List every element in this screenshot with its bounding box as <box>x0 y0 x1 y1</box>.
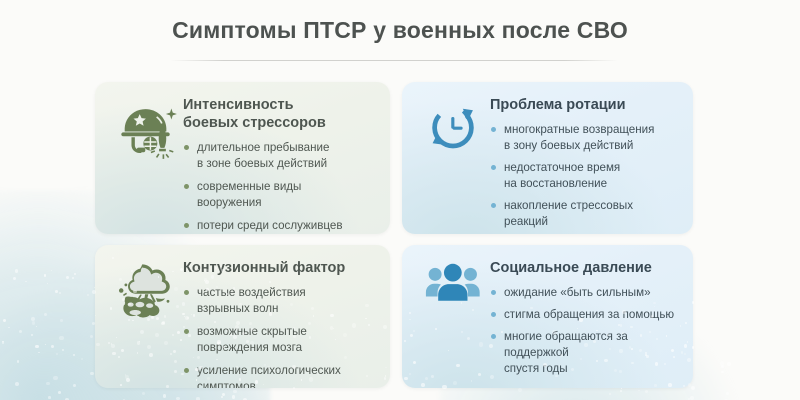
texture-speckle <box>690 396 694 400</box>
texture-speckle <box>81 358 83 360</box>
card-rotation-title: Проблема ротации <box>490 97 679 115</box>
card-social-pressure-icon-slot <box>416 259 490 376</box>
list-item: стигма обращения за помощью <box>490 307 679 323</box>
texture-speckle <box>38 352 39 353</box>
texture-speckle <box>8 327 9 328</box>
clock-rotation-icon <box>425 99 481 155</box>
texture-speckle <box>53 376 57 380</box>
texture-speckle <box>645 390 648 393</box>
texture-speckle <box>60 319 63 322</box>
texture-speckle <box>17 360 20 363</box>
texture-speckle <box>46 382 50 386</box>
texture-speckle <box>176 397 179 400</box>
card-social-pressure[interactable]: Социальное давление ожидание «быть сильн… <box>402 245 693 388</box>
card-intensity-bullet-list: длительное пребывание в зоне боевых дейс… <box>183 140 376 234</box>
page-title: Симптомы ПТСР у военных после СВО <box>0 17 800 44</box>
texture-speckle <box>72 277 74 279</box>
texture-speckle <box>233 390 237 394</box>
texture-speckle <box>55 290 58 293</box>
texture-speckle <box>73 384 76 387</box>
people-group-icon <box>423 262 483 308</box>
texture-speckle <box>51 345 54 348</box>
card-intensity-title: Интенсивность боевых стрессоров <box>183 97 376 133</box>
card-rotation-icon-slot <box>416 96 490 222</box>
texture-speckle <box>47 283 49 285</box>
card-rotation-bullet-list: многократные возвращения в зону боевых д… <box>490 122 679 230</box>
texture-speckle <box>2 341 4 343</box>
texture-speckle <box>721 371 723 373</box>
list-item: частые воздействия взрывных волн <box>183 285 376 317</box>
texture-speckle <box>726 392 729 395</box>
brain-blast-icon <box>114 262 178 320</box>
list-item: современные виды вооружения <box>183 179 376 211</box>
texture-speckle <box>66 276 69 279</box>
texture-speckle <box>32 321 35 324</box>
texture-speckle <box>59 292 61 294</box>
military-helmet-icon <box>115 99 177 161</box>
texture-speckle <box>727 362 731 366</box>
infographic-slide: Симптомы ПТСР у военных после СВО <box>0 0 800 400</box>
title-divider <box>170 60 618 61</box>
texture-speckle <box>45 344 46 345</box>
texture-speckle <box>59 336 63 340</box>
texture-speckle <box>74 273 77 276</box>
texture-speckle <box>48 396 51 399</box>
texture-speckle <box>621 388 622 389</box>
texture-speckle <box>222 393 225 396</box>
texture-speckle <box>90 335 93 338</box>
texture-speckle <box>720 361 724 365</box>
card-intensity[interactable]: Интенсивность боевых стрессоров длительн… <box>95 82 390 234</box>
texture-speckle <box>31 334 33 336</box>
texture-speckle <box>609 393 611 395</box>
texture-speckle <box>44 313 47 316</box>
list-item: усиление психологических симптомов <box>183 363 376 388</box>
card-social-pressure-bullet-list: ожидание «быть сильным» стигма обращения… <box>490 285 679 377</box>
texture-speckle <box>90 372 94 376</box>
card-intensity-icon-slot <box>109 96 183 222</box>
texture-speckle <box>35 345 39 349</box>
card-concussion[interactable]: Контузионный фактор частые воздействия в… <box>95 245 390 388</box>
texture-speckle <box>518 388 522 392</box>
list-item: ожидание «быть сильным» <box>490 285 679 301</box>
texture-speckle <box>31 317 35 321</box>
texture-speckle <box>620 390 622 392</box>
texture-speckle <box>56 353 59 356</box>
texture-speckle <box>721 365 725 369</box>
texture-speckle <box>15 269 18 272</box>
texture-speckle <box>44 274 46 276</box>
texture-speckle <box>36 326 37 327</box>
list-item: длительное пребывание в зоне боевых дейс… <box>183 140 376 172</box>
list-item: недостаточное время на восстановление <box>490 160 679 192</box>
texture-speckle <box>51 270 52 271</box>
texture-speckle <box>62 349 63 350</box>
texture-speckle <box>15 382 19 386</box>
card-concussion-title: Контузионный фактор <box>183 260 376 278</box>
texture-speckle <box>87 294 89 296</box>
texture-speckle <box>73 354 75 356</box>
list-item: накопление стрессовых реакций <box>490 198 679 230</box>
texture-speckle <box>232 395 235 398</box>
list-item: возможные скрытые повреждения мозга <box>183 324 376 356</box>
texture-speckle <box>221 396 222 397</box>
card-social-pressure-title: Социальное давление <box>490 260 679 278</box>
card-rotation[interactable]: Проблема ротации многократные возвращени… <box>402 82 693 234</box>
list-item: потери среди сослуживцев <box>183 218 376 234</box>
list-item: многие обращаются за поддержкой спустя г… <box>490 329 679 377</box>
card-concussion-icon-slot <box>109 259 183 376</box>
texture-speckle <box>2 341 4 343</box>
texture-speckle <box>142 392 145 395</box>
card-concussion-bullet-list: частые воздействия взрывных волн возможн… <box>183 285 376 388</box>
texture-speckle <box>638 390 640 392</box>
texture-speckle <box>25 281 27 283</box>
texture-speckle <box>58 391 61 394</box>
texture-speckle <box>13 277 16 280</box>
texture-speckle <box>688 398 690 400</box>
texture-speckle <box>3 319 6 322</box>
texture-speckle <box>19 330 22 333</box>
list-item: многократные возвращения в зону боевых д… <box>490 122 679 154</box>
texture-speckle <box>163 394 166 397</box>
